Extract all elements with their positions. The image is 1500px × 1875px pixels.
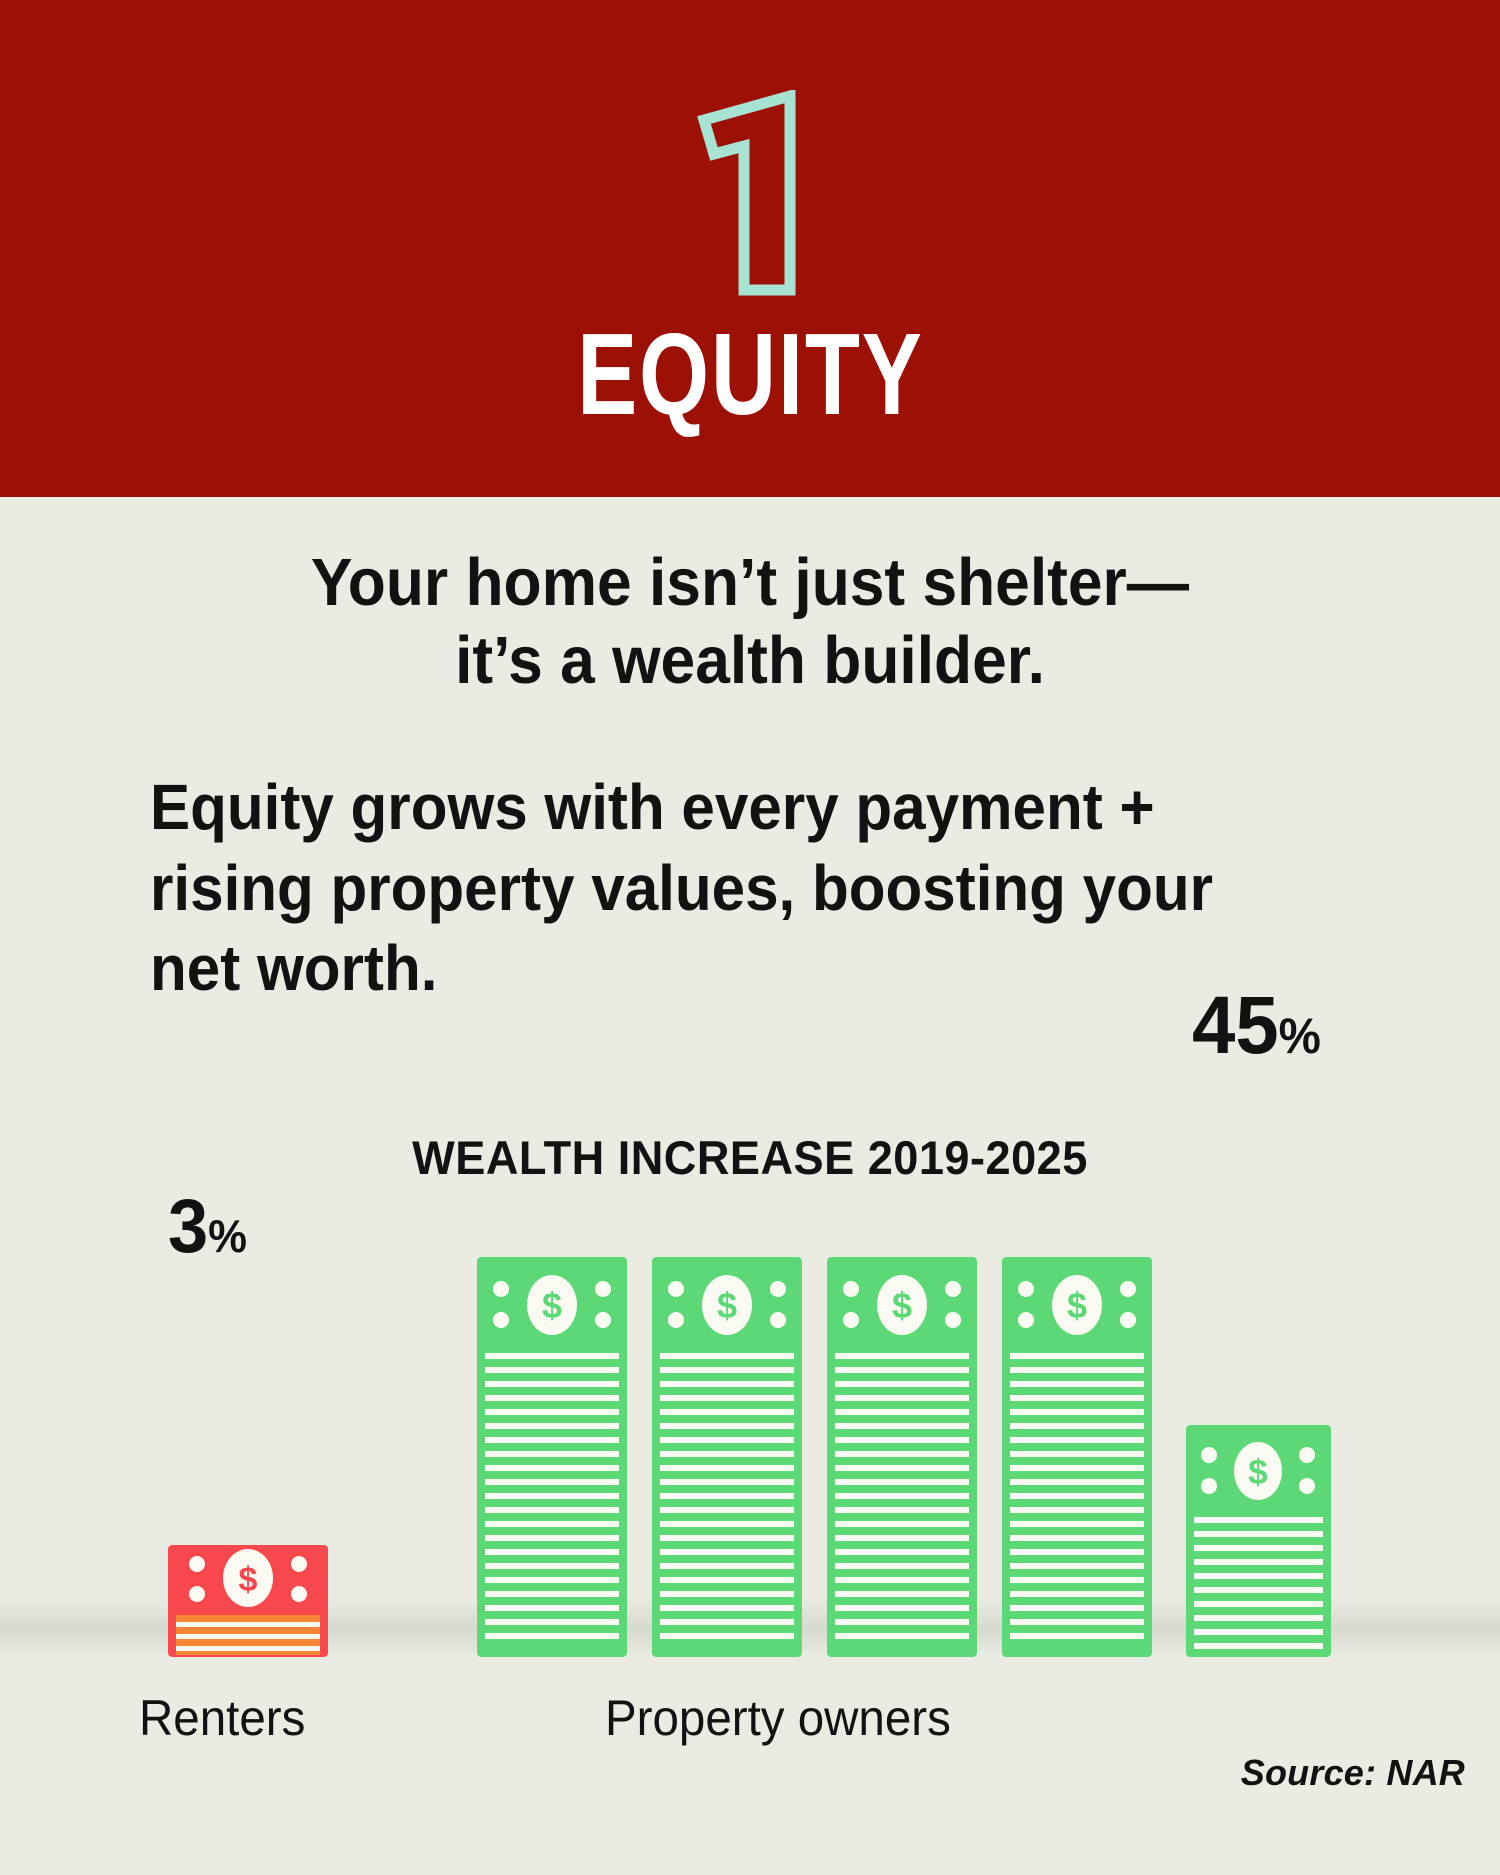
bar-owners-4: $	[1002, 1257, 1152, 1657]
svg-text:$: $	[1067, 1285, 1087, 1326]
category-label-owners: Property owners	[605, 1689, 951, 1747]
banner-title: EQUITY	[577, 316, 924, 432]
svg-text:$: $	[1248, 1453, 1267, 1492]
category-label-renters: Renters	[139, 1689, 305, 1747]
source-attribution: Source: NAR	[1241, 1752, 1465, 1794]
value-label-renters-number: 3	[168, 1184, 208, 1269]
bar-chart: $	[0, 1197, 1500, 1657]
chart-title: WEALTH INCREASE 2019-2025	[30, 1130, 1470, 1185]
svg-text:$: $	[239, 1561, 258, 1599]
header-banner: EQUITY	[0, 0, 1500, 497]
percent-symbol: %	[208, 1210, 247, 1262]
svg-text:$: $	[542, 1285, 562, 1326]
svg-text:$: $	[717, 1285, 737, 1326]
body-paragraph: Equity grows with every payment + rising…	[150, 767, 1306, 1009]
headline-line-2: it’s a wealth builder.	[53, 622, 1448, 700]
svg-text:$: $	[892, 1285, 912, 1326]
content-area: Your home isn’t just shelter— it’s a wea…	[0, 497, 1500, 1875]
bar-owners-3: $	[827, 1257, 977, 1657]
value-label-owners: 45%	[1192, 985, 1321, 1067]
bar-owners-5-partial: $	[1186, 1425, 1331, 1657]
value-label-renters: 3%	[168, 1189, 247, 1265]
bar-owners-1: $	[477, 1257, 627, 1657]
numeral-one-icon	[692, 88, 808, 298]
bar-renters: $	[168, 1545, 328, 1657]
value-label-owners-number: 45	[1192, 980, 1279, 1071]
headline-line-1: Your home isn’t just shelter—	[53, 544, 1448, 622]
bar-owners-2: $	[652, 1257, 802, 1657]
page-headline: Your home isn’t just shelter— it’s a wea…	[53, 544, 1448, 701]
percent-symbol: %	[1279, 1008, 1321, 1064]
